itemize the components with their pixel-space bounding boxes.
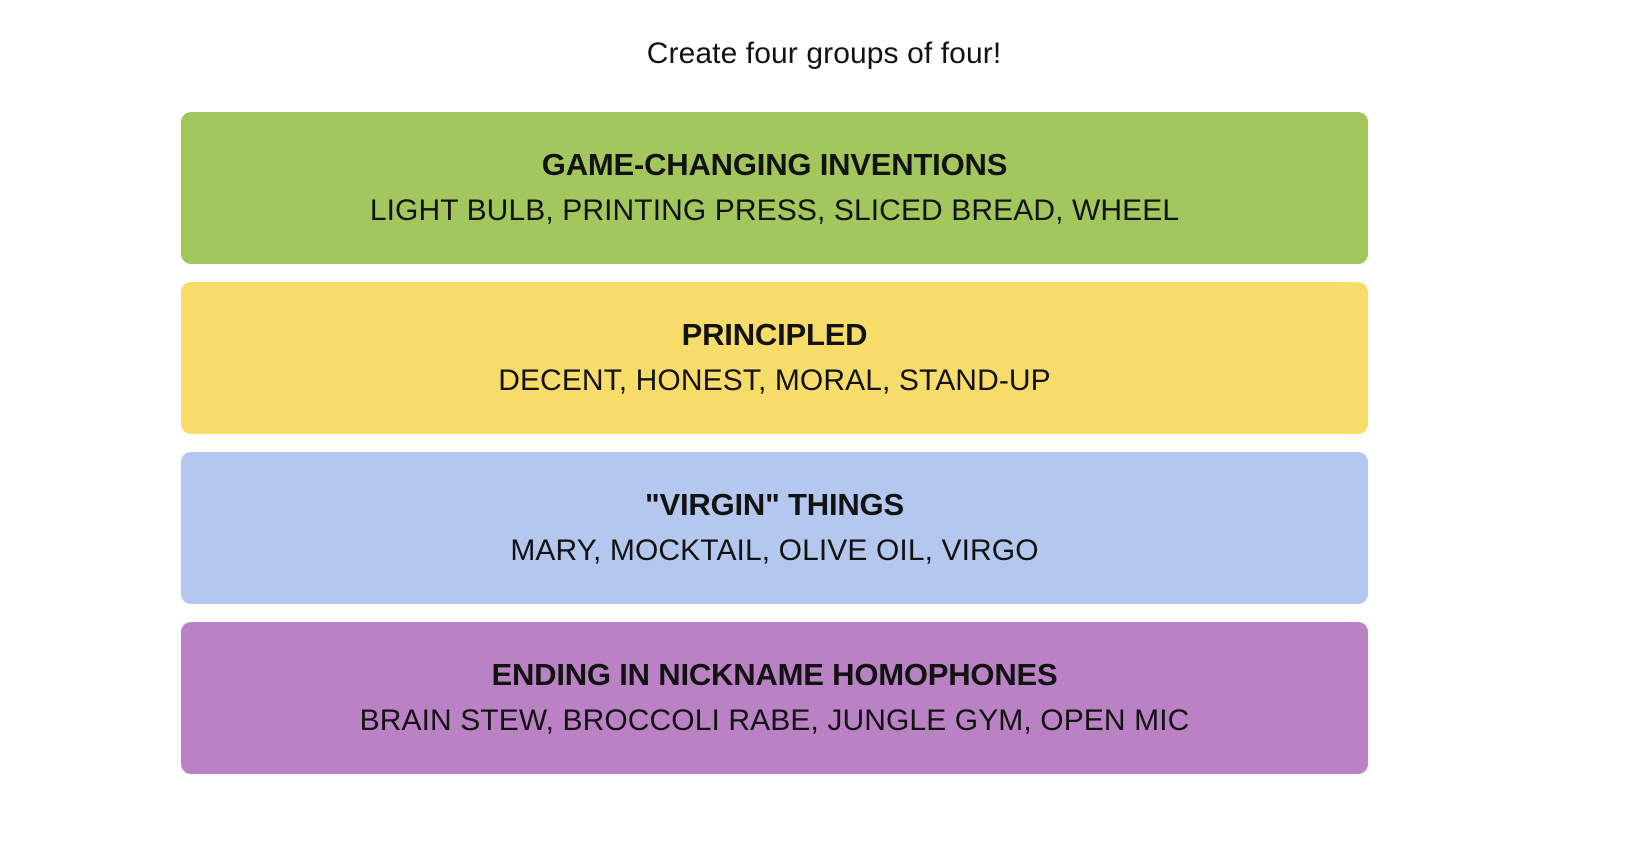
group-members-list: BRAIN STEW, BROCCOLI RABE, JUNGLE GYM, O…: [360, 703, 1190, 739]
group-category-title: GAME-CHANGING INVENTIONS: [542, 147, 1007, 184]
group-category-title: PRINCIPLED: [682, 317, 868, 354]
puzzle-results-screen: Create four groups of four! GAME-CHANGIN…: [0, 0, 1648, 852]
group-category-title: ENDING IN NICKNAME HOMOPHONES: [491, 657, 1057, 694]
solved-group-card: PRINCIPLED DECENT, HONEST, MORAL, STAND-…: [181, 282, 1368, 434]
group-members-list: MARY, MOCKTAIL, OLIVE OIL, VIRGO: [510, 533, 1038, 569]
solved-group-card: "VIRGIN" THINGS MARY, MOCKTAIL, OLIVE OI…: [181, 452, 1368, 604]
page-title: Create four groups of four!: [0, 0, 1648, 72]
solved-group-card: ENDING IN NICKNAME HOMOPHONES BRAIN STEW…: [181, 622, 1368, 774]
group-members-list: LIGHT BULB, PRINTING PRESS, SLICED BREAD…: [370, 193, 1179, 229]
solved-group-card: GAME-CHANGING INVENTIONS LIGHT BULB, PRI…: [181, 112, 1368, 264]
group-members-list: DECENT, HONEST, MORAL, STAND-UP: [498, 363, 1051, 399]
group-category-title: "VIRGIN" THINGS: [645, 487, 904, 524]
solved-groups-list: GAME-CHANGING INVENTIONS LIGHT BULB, PRI…: [181, 112, 1368, 774]
